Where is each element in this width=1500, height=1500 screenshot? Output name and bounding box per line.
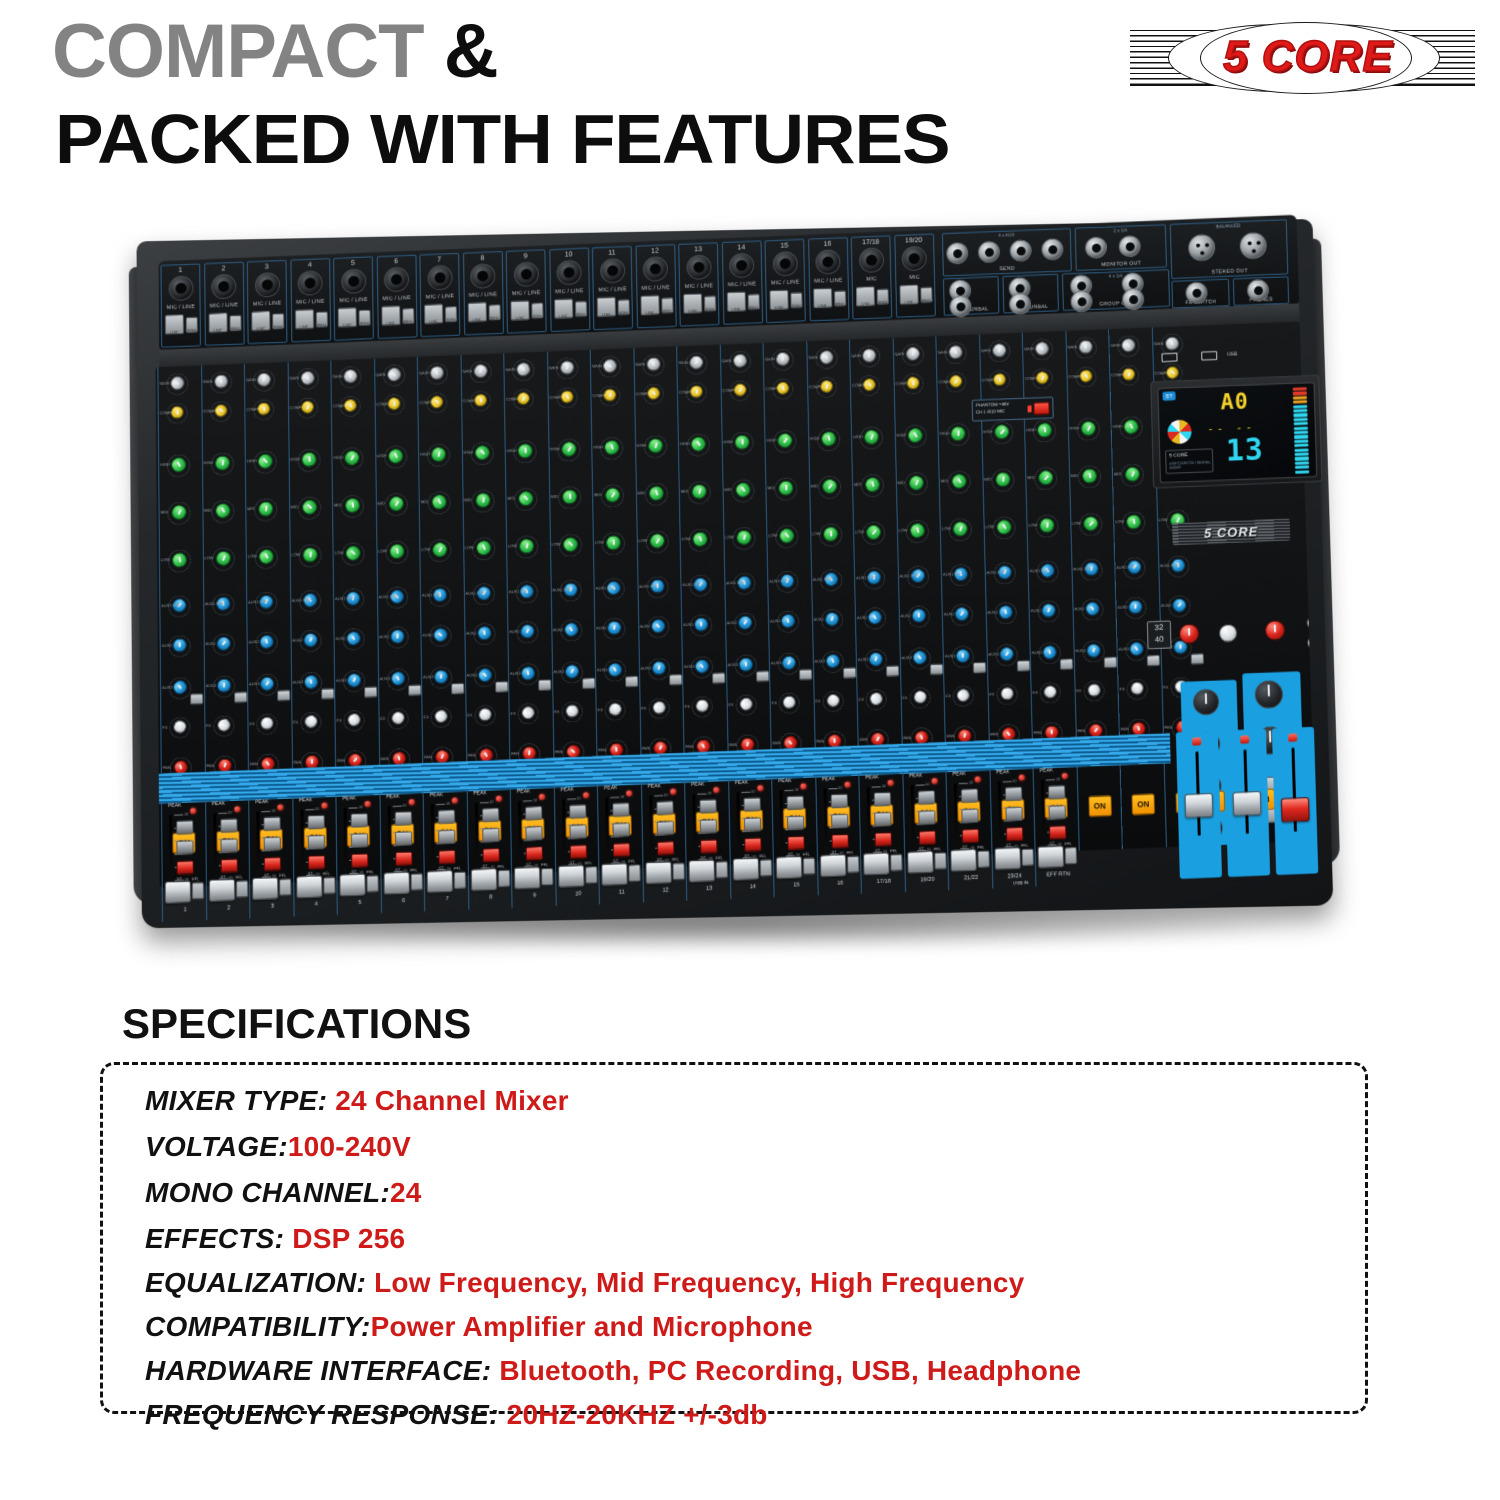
output-group-top-label: 2 x 1/4: [1076, 226, 1165, 235]
knob-label: GAIN: [203, 379, 213, 384]
aux-pre-switch[interactable]: [929, 664, 942, 676]
group-assign-cap[interactable]: [656, 801, 673, 816]
line-switch[interactable]: LINE: [554, 298, 573, 318]
pfl-button[interactable]: [235, 880, 247, 898]
aux-pre-switch[interactable]: [1147, 655, 1160, 667]
line-switch-label: LINE: [641, 310, 658, 316]
channel-fader[interactable]: [732, 858, 759, 881]
input-switch-pair[interactable]: LINE80Hz: [813, 287, 847, 310]
pfl-button[interactable]: [192, 882, 204, 900]
knob-label: HIGH: [1069, 425, 1079, 430]
knob-label: PAN: [642, 745, 650, 750]
knob-label: COMP: [463, 398, 475, 403]
spec-label: VOLTAGE:: [145, 1131, 288, 1162]
knob-label: AUX1 PRE: [1160, 562, 1180, 568]
combo-jack-icon[interactable]: [513, 261, 538, 287]
aux-pre-switch[interactable]: [582, 678, 595, 690]
group-assign-cap[interactable]: [656, 821, 673, 836]
group-assign-cap[interactable]: [395, 831, 412, 846]
knob-label: COMP: [1154, 370, 1166, 375]
input-channel-cell: 7MIC / LINELINE80Hz: [419, 253, 460, 337]
group-assign-cap[interactable]: [874, 812, 891, 827]
knob-label: LOW: [335, 550, 344, 555]
group-assign-cap[interactable]: [961, 788, 978, 803]
st-button[interactable]: [351, 853, 368, 868]
hpf-switch[interactable]: 80Hz: [229, 315, 241, 331]
knob-label: PAN: [1077, 728, 1085, 733]
st-button[interactable]: [962, 829, 979, 844]
combo-jack-icon[interactable]: [470, 263, 495, 289]
knob-label: PAN: [729, 742, 737, 747]
knob-label: MID: [811, 483, 818, 488]
combo-jack-icon[interactable]: [686, 254, 711, 280]
knob-label: LOW: [812, 531, 821, 536]
pfl-button[interactable]: [716, 861, 728, 879]
jack-label: MIC / LINE: [421, 293, 459, 300]
st-button[interactable]: [395, 851, 412, 866]
line-switch[interactable]: LINE: [640, 295, 659, 315]
group-assign-cap[interactable]: [569, 804, 586, 819]
pfl-button[interactable]: [497, 870, 509, 888]
combo-jack-icon[interactable]: [211, 274, 236, 300]
group-assign-cap[interactable]: [351, 833, 368, 848]
pfl-button[interactable]: [541, 868, 553, 886]
hpf-switch-label: 80Hz: [489, 315, 499, 320]
peak-label: PEAK: [430, 792, 443, 799]
group-assign-cap[interactable]: [176, 840, 193, 855]
group-assign-cap[interactable]: [307, 815, 324, 830]
vu-segment: [1293, 400, 1307, 404]
line-switch[interactable]: LINE: [381, 305, 400, 325]
knob-label: MID: [941, 478, 948, 483]
aux-pre-switch[interactable]: [1060, 658, 1073, 670]
line-switch[interactable]: LINE: [856, 286, 875, 306]
channel-fader[interactable]: [165, 880, 191, 903]
phantom-sub-label: CH 1-9/10 MIC: [976, 408, 1005, 415]
hpf-switch[interactable]: 80Hz: [531, 303, 543, 319]
hpf-switch[interactable]: 80Hz: [877, 289, 889, 305]
combo-jack-icon[interactable]: [298, 270, 323, 296]
channel-number: 19/20: [895, 237, 933, 245]
knob-label: MID: [421, 499, 428, 504]
line-switch-label: LINE: [209, 327, 226, 333]
input-switch-pair[interactable]: LINE80Hz: [208, 312, 242, 335]
hpf-switch[interactable]: 80Hz: [747, 294, 759, 310]
combo-jack-icon[interactable]: [902, 246, 927, 272]
hpf-switch[interactable]: 80Hz: [445, 306, 457, 322]
fader-strip: PEAK10505102030STPFL6: [379, 791, 425, 913]
spec-label: EQUALIZATION:: [145, 1267, 366, 1298]
aux-pre-switch[interactable]: [408, 685, 421, 697]
hpf-switch[interactable]: 80Hz: [359, 310, 371, 326]
input-switch-pair[interactable]: LINE80Hz: [381, 305, 415, 328]
master-fader-cap[interactable]: [1233, 791, 1262, 816]
pfl-button[interactable]: [672, 863, 684, 881]
aux-pre-switch[interactable]: [1016, 660, 1029, 672]
fader-number: 10: [556, 890, 600, 898]
knob-label: FX: [293, 719, 298, 724]
group-assign-cap[interactable]: [482, 828, 499, 843]
channel-fader[interactable]: [558, 865, 584, 888]
aux-pre-switch[interactable]: [495, 681, 508, 693]
pfl-button[interactable]: [934, 852, 946, 870]
line-switch[interactable]: LINE: [294, 309, 313, 329]
input-switch-pair[interactable]: LINE80Hz: [424, 303, 458, 326]
channel-fader[interactable]: [776, 856, 803, 879]
aux-pre-switch[interactable]: [843, 667, 856, 679]
knob-label: HIGH: [1113, 424, 1123, 429]
line-switch[interactable]: LINE: [338, 307, 357, 327]
group-assign-cap[interactable]: [481, 808, 498, 823]
knob-label: HIGH: [593, 444, 603, 449]
pfl-button[interactable]: [890, 854, 902, 872]
aux-pre-switch[interactable]: [625, 676, 638, 688]
input-channel-cell: 8MIC / LINELINE80Hz: [463, 251, 504, 335]
hpf-switch[interactable]: 80Hz: [661, 297, 673, 313]
group-assign-cap[interactable]: [787, 816, 804, 831]
st-button[interactable]: [482, 848, 499, 863]
spec-value: Low Frequency, Mid Frequency, High Frequ…: [366, 1267, 1024, 1298]
channel-fader[interactable]: [689, 859, 715, 882]
pfl-button[interactable]: [977, 850, 989, 868]
pfl-button[interactable]: [759, 859, 771, 877]
st-button[interactable]: [787, 836, 804, 851]
group-assign-cap[interactable]: [307, 835, 324, 850]
input-switch-pair[interactable]: LINE80Hz: [726, 291, 760, 314]
channel-knob[interactable]: [911, 609, 925, 623]
phantom-button[interactable]: [1033, 402, 1049, 415]
master-fader-cap[interactable]: [1185, 793, 1214, 818]
st-button[interactable]: [1049, 825, 1066, 840]
group-assign-cap[interactable]: [961, 809, 978, 824]
aux-pre-switch[interactable]: [799, 669, 812, 681]
pfl-button[interactable]: [410, 873, 422, 891]
line-switch[interactable]: LINE: [726, 291, 745, 311]
input-switch-pair[interactable]: LINE80Hz: [769, 289, 803, 312]
knob-label: PAN: [816, 738, 824, 743]
fader-number: 5: [338, 899, 382, 907]
group-assign-cap[interactable]: [394, 811, 411, 826]
input-switch-pair[interactable]: LINE80Hz: [165, 314, 199, 337]
combo-jack-icon[interactable]: [254, 272, 279, 298]
knob-label: LOW: [1115, 519, 1124, 524]
knob-label: PAN: [293, 759, 301, 764]
hpf-switch[interactable]: 80Hz: [618, 299, 630, 315]
st-button[interactable]: [1005, 827, 1022, 842]
group-assign-cap[interactable]: [438, 809, 455, 824]
group-assign-cap[interactable]: [613, 823, 630, 838]
hpf-switch[interactable]: 80Hz: [488, 304, 500, 320]
combo-jack-icon[interactable]: [643, 256, 668, 282]
input-switch-pair[interactable]: LINE80Hz: [554, 298, 588, 321]
combo-jack-icon[interactable]: [427, 265, 452, 291]
knob-label: HIGH: [940, 430, 950, 435]
group-assign-cap[interactable]: [831, 814, 848, 829]
channel-knob[interactable]: [216, 678, 231, 692]
prog-knob[interactable]: [1265, 620, 1286, 641]
peak-label: PEAK: [386, 794, 399, 801]
pfl-label: PFL: [846, 850, 853, 855]
group-assign-cap[interactable]: [569, 824, 586, 839]
group-assign-cap[interactable]: [1049, 805, 1066, 820]
fx-knob[interactable]: [1219, 624, 1237, 643]
pfl-button[interactable]: [454, 871, 466, 889]
channel-fader[interactable]: [645, 861, 671, 884]
knob-label: AUX1 PRE: [205, 601, 225, 607]
combo-jack-icon[interactable]: [815, 249, 840, 275]
st-button[interactable]: [220, 858, 237, 873]
aux-pre-switch[interactable]: [451, 683, 464, 695]
jack-label: MIC / LINE: [723, 281, 761, 288]
knob-label: COMP: [636, 391, 648, 396]
knob-label: AUX1 PRE: [422, 592, 442, 598]
knob-label: MID: [377, 501, 384, 506]
input-switch-pair[interactable]: LINE80Hz: [338, 307, 372, 330]
channel-fader[interactable]: [601, 863, 627, 886]
aux-pre-switch[interactable]: [321, 688, 334, 700]
knob-label: AUX3: [1075, 648, 1086, 653]
combo-jack-icon[interactable]: [600, 258, 625, 284]
combo-jack-icon[interactable]: [556, 260, 581, 286]
group-assign-cap[interactable]: [700, 819, 717, 834]
hpf-switch-label: 80Hz: [878, 299, 888, 304]
hpf-switch[interactable]: 80Hz: [790, 292, 802, 308]
combo-jack-icon[interactable]: [772, 251, 797, 277]
aux-pre-switch[interactable]: [1103, 657, 1116, 669]
group-assign-cap[interactable]: [220, 818, 237, 833]
st-button[interactable]: [831, 834, 848, 849]
channel-fader[interactable]: [514, 866, 540, 889]
headline-line-1: COMPACT &: [52, 14, 498, 90]
vu-segment: [1294, 444, 1308, 448]
knob-label: MID: [551, 494, 558, 499]
line-switch[interactable]: LINE: [769, 290, 788, 310]
group-assign-cap[interactable]: [917, 790, 934, 805]
line-switch[interactable]: LINE: [467, 302, 486, 322]
line-switch[interactable]: LINE: [683, 293, 702, 313]
phantom-power-module[interactable]: PHANTOM +48V CH 1-9/10 MIC: [972, 397, 1054, 422]
spec-row: FREQUENCY RESPONSE: 20HZ-20KHZ +/-3db: [145, 1401, 768, 1429]
knob-label: FX: [598, 707, 603, 712]
line-switch[interactable]: LINE: [899, 284, 918, 304]
group-assign-cap[interactable]: [787, 795, 804, 810]
group-assign-cap[interactable]: [874, 792, 891, 807]
group-assign-cap[interactable]: [525, 826, 542, 841]
st-button[interactable]: [177, 860, 194, 875]
input-switch-pair[interactable]: LINE80Hz: [294, 308, 328, 331]
hpf-switch[interactable]: 80Hz: [272, 313, 284, 329]
usb-label: USB: [1227, 351, 1237, 357]
knob-label: COMP: [333, 403, 345, 408]
aux-pre-switch[interactable]: [538, 679, 551, 691]
st-button[interactable]: [526, 846, 543, 861]
knob-label: MID: [594, 492, 601, 497]
pfl-button[interactable]: [628, 864, 640, 882]
channel-fader[interactable]: [994, 847, 1021, 870]
st-button[interactable]: [918, 830, 935, 845]
knob-label: PAN: [1164, 724, 1172, 729]
input-channel-cell: 12MIC / LINELINE80Hz: [635, 244, 676, 328]
input-switch-pair[interactable]: LINE80Hz: [899, 284, 933, 307]
peak-label: PEAK: [168, 802, 181, 809]
fader-strip: PEAK10505102030STPFL12: [640, 780, 686, 902]
jack-label: MIC / LINE: [248, 300, 286, 307]
group-assign-cap[interactable]: [264, 837, 281, 852]
combo-jack-icon[interactable]: [168, 275, 193, 301]
st-button[interactable]: [308, 855, 325, 870]
knob-label: AUX2: [553, 627, 564, 632]
pfl-button[interactable]: [803, 857, 815, 875]
channel-fader[interactable]: [907, 851, 934, 874]
group-assign-cap[interactable]: [1004, 787, 1021, 802]
hpf-switch[interactable]: 80Hz: [704, 296, 716, 312]
spec-value: 20HZ-20KHZ +/-3db: [499, 1399, 768, 1430]
input-switch-pair[interactable]: LINE80Hz: [856, 286, 890, 309]
aux-pre-switch[interactable]: [669, 674, 682, 686]
group-assign-cap[interactable]: [263, 816, 280, 831]
combo-jack-icon[interactable]: [858, 247, 883, 273]
aux-pre-switch[interactable]: [886, 665, 899, 677]
group-assign-cap[interactable]: [1048, 785, 1065, 800]
fader-strip: PEAK10505102030STPFL4: [292, 794, 338, 916]
group-assign-cap[interactable]: [438, 830, 455, 845]
master-fader-cap[interactable]: [1281, 797, 1310, 822]
group-assign-cap[interactable]: [612, 802, 629, 817]
combo-jack-icon[interactable]: [341, 268, 366, 294]
knob-label: AUX3: [206, 683, 217, 688]
st-button[interactable]: [700, 839, 717, 854]
input-switch-pair[interactable]: LINE80Hz: [640, 294, 674, 317]
channel-fader[interactable]: [950, 849, 977, 872]
aux-pre-switch[interactable]: [190, 693, 203, 705]
jack-label: MIC / LINE: [464, 291, 502, 298]
channel-fader[interactable]: [863, 852, 890, 875]
aux-pre-switch[interactable]: [1190, 653, 1203, 665]
fader-strip: PEAK10505102030STPFL9: [510, 785, 556, 907]
line-switch[interactable]: LINE: [424, 304, 443, 324]
knob-label: FX: [902, 695, 907, 700]
group-assign-cap[interactable]: [220, 838, 237, 853]
hpf-switch[interactable]: 80Hz: [402, 308, 414, 324]
hpf-switch[interactable]: 80Hz: [833, 290, 845, 306]
line-switch[interactable]: LINE: [813, 288, 832, 308]
master-fader-panel: [1176, 731, 1222, 879]
channel-fader[interactable]: [383, 872, 409, 895]
group-assign-cap[interactable]: [525, 806, 542, 821]
knob-label: AUX2: [683, 622, 694, 627]
line-switch[interactable]: LINE: [251, 311, 270, 331]
st-button[interactable]: [744, 837, 761, 852]
knob-label: AUX2: [292, 637, 302, 642]
pfl-button[interactable]: [279, 878, 291, 896]
input-switch-pair[interactable]: LINE80Hz: [597, 296, 631, 319]
channel-fader[interactable]: [339, 873, 365, 896]
peak-label: PEAK: [691, 781, 704, 788]
group-assign-cap[interactable]: [1005, 807, 1022, 822]
st-button[interactable]: [569, 844, 586, 859]
line-switch-label: LINE: [598, 312, 615, 318]
aux-pre-switch[interactable]: [364, 686, 377, 698]
st-button[interactable]: [657, 841, 674, 856]
aux-pre-switch[interactable]: [234, 692, 247, 704]
channel-fader[interactable]: [296, 875, 322, 898]
channel-knob[interactable]: [1000, 687, 1013, 700]
hpf-switch[interactable]: 80Hz: [574, 301, 586, 317]
line-switch[interactable]: LINE: [597, 297, 616, 317]
group-assign-cap[interactable]: [743, 797, 760, 812]
pfl-button[interactable]: [585, 866, 597, 884]
group-assign-cap[interactable]: [351, 813, 368, 828]
channel-fader[interactable]: [252, 877, 278, 900]
pfl-label: PFL: [366, 869, 373, 874]
vu-segment: [1293, 413, 1307, 417]
hpf-switch[interactable]: 80Hz: [315, 311, 327, 327]
input-switch-pair[interactable]: LINE80Hz: [510, 300, 544, 323]
group-assign-cap[interactable]: [699, 799, 716, 814]
st-button[interactable]: [875, 832, 892, 847]
pfl-button[interactable]: [847, 856, 859, 874]
knob-label: HIGH: [463, 449, 473, 454]
knob-label: AUX3: [945, 653, 956, 658]
combo-jack-icon[interactable]: [384, 267, 409, 293]
channel-fader[interactable]: [1037, 845, 1064, 868]
jack-label: MIC / LINE: [507, 290, 545, 297]
pfl-button[interactable]: [1021, 849, 1033, 867]
channel-fader[interactable]: [208, 879, 234, 902]
aux-pre-switch[interactable]: [973, 662, 986, 674]
pfl-button[interactable]: [323, 877, 335, 895]
pfl-button[interactable]: [1065, 847, 1077, 865]
channel-fader[interactable]: [427, 870, 453, 893]
group-assign-cap[interactable]: [830, 794, 847, 809]
line-switch[interactable]: LINE: [208, 313, 227, 333]
knob-label: PAN: [337, 758, 345, 763]
line-switch[interactable]: LINE: [510, 300, 529, 320]
knob-label: MID: [984, 476, 991, 481]
input-switch-pair[interactable]: LINE80Hz: [251, 310, 285, 333]
st-button[interactable]: [613, 843, 630, 858]
knob-label: AUX1 PRE: [552, 587, 572, 593]
bluetooth-badge: BT: [1162, 391, 1175, 400]
knob-label: COMP: [809, 384, 821, 389]
st-button[interactable]: [438, 850, 455, 865]
channel-fader[interactable]: [819, 854, 846, 877]
channel-knob[interactable]: [646, 357, 660, 371]
group-assign-cap[interactable]: [176, 820, 193, 835]
knob-label: HIGH: [983, 429, 993, 434]
channel-knob[interactable]: [823, 527, 838, 542]
hpf-switch[interactable]: 80Hz: [186, 317, 198, 333]
combo-jack-icon[interactable]: [729, 253, 754, 279]
jack-label: MIC / LINE: [335, 297, 373, 304]
input-switch-pair[interactable]: LINE80Hz: [683, 293, 717, 316]
line-switch[interactable]: LINE: [165, 314, 184, 334]
st-button[interactable]: [264, 857, 281, 872]
hpf-switch[interactable]: 80Hz: [920, 287, 932, 303]
headline-line-2: PACKED WITH FEATURES: [55, 104, 950, 174]
pfl-button[interactable]: [366, 875, 378, 893]
aux-pre-switch[interactable]: [277, 690, 290, 702]
group-assign-cap[interactable]: [743, 817, 760, 832]
jack-label: MIC / LINE: [594, 286, 632, 293]
channel-knob[interactable]: [734, 435, 749, 450]
group-assign-cap[interactable]: [918, 810, 935, 825]
aux-pre-switch[interactable]: [756, 671, 769, 683]
line-switch-label: LINE: [684, 308, 701, 314]
aux-pre-switch[interactable]: [712, 672, 725, 684]
input-switch-pair[interactable]: LINE80Hz: [467, 301, 501, 324]
channel-fader[interactable]: [470, 868, 496, 891]
